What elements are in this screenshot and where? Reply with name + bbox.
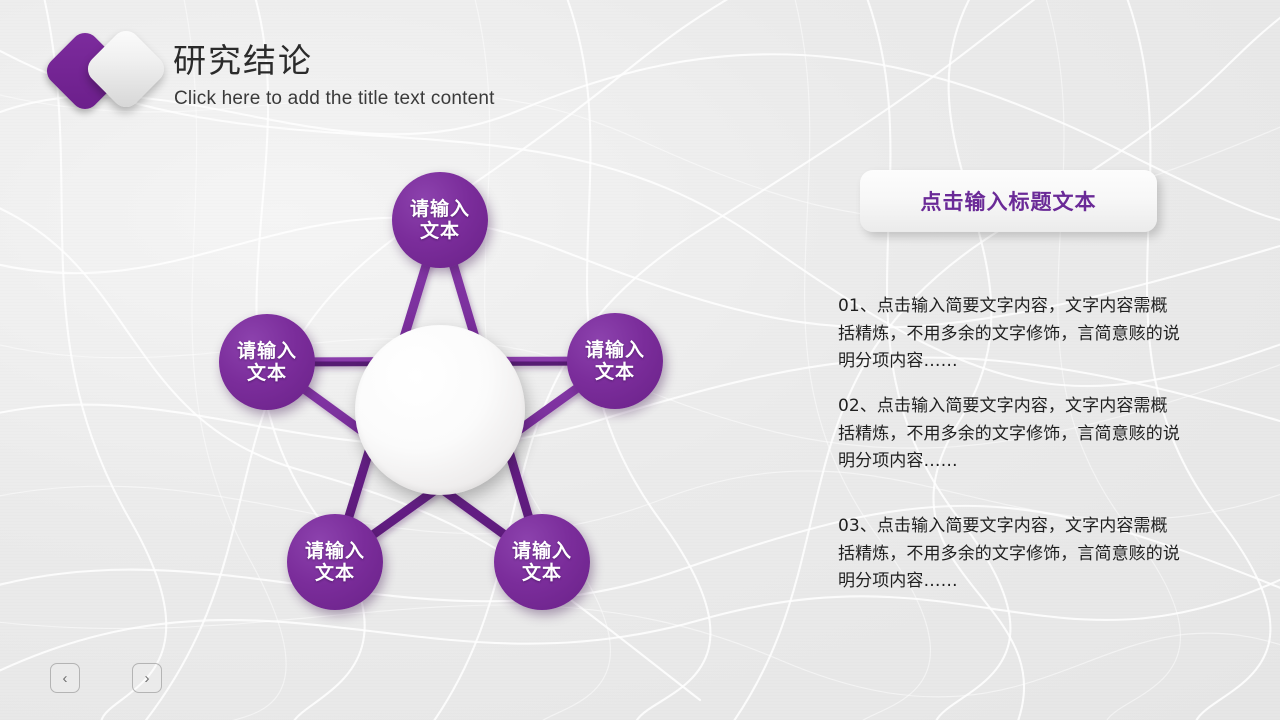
- node-bottom-left[interactable]: 请输入 文本: [287, 514, 383, 610]
- node-right-line2: 文本: [585, 361, 645, 383]
- star-diagram: 请输入 文本 请输入 文本 请输入 文本 请输入 文本 请输入 文本: [150, 150, 710, 650]
- node-top[interactable]: 请输入 文本: [392, 172, 488, 268]
- page-title: 研究结论: [173, 34, 313, 82]
- bullet-paragraph-02: 02、点击输入简要文字内容，文字内容需概括精炼，不用多余的文字修饰，言简意赅的说…: [838, 393, 1182, 476]
- next-slide-button[interactable]: ›: [132, 663, 162, 693]
- node-bottom-right-line1: 请输入: [512, 540, 572, 562]
- node-top-line1: 请输入: [410, 198, 470, 220]
- chevron-right-icon: ›: [145, 670, 150, 687]
- chevron-left-icon: ‹: [63, 670, 68, 687]
- double-diamond-logo: [48, 26, 176, 118]
- node-bottom-right-line2: 文本: [512, 562, 572, 584]
- node-left[interactable]: 请输入 文本: [219, 314, 315, 410]
- node-top-line2: 文本: [410, 220, 470, 242]
- right-content-panel: 点击输入标题文本 01、点击输入简要文字内容，文字内容需概括精炼，不用多余的文字…: [838, 170, 1238, 232]
- node-bottom-right[interactable]: 请输入 文本: [494, 514, 590, 610]
- bullet-paragraph-01: 01、点击输入简要文字内容，文字内容需概括精炼，不用多余的文字修饰，言简意赅的说…: [838, 293, 1182, 376]
- node-right[interactable]: 请输入 文本: [567, 313, 663, 409]
- node-bottom-left-line2: 文本: [305, 562, 365, 584]
- bullet-paragraph-03: 03、点击输入简要文字内容，文字内容需概括精炼，不用多余的文字修饰，言简意赅的说…: [838, 513, 1182, 596]
- section-title-text: 点击输入标题文本: [921, 186, 1097, 216]
- page-subtitle: Click here to add the title text content: [174, 88, 495, 110]
- node-right-line1: 请输入: [585, 339, 645, 361]
- node-left-line1: 请输入: [237, 340, 297, 362]
- center-hub-circle[interactable]: [355, 325, 525, 495]
- node-bottom-left-line1: 请输入: [305, 540, 365, 562]
- node-left-line2: 文本: [237, 362, 297, 384]
- header: 研究结论 Click here to add the title text co…: [0, 0, 1280, 140]
- section-title-box[interactable]: 点击输入标题文本: [860, 170, 1157, 232]
- prev-slide-button[interactable]: ‹: [50, 663, 80, 693]
